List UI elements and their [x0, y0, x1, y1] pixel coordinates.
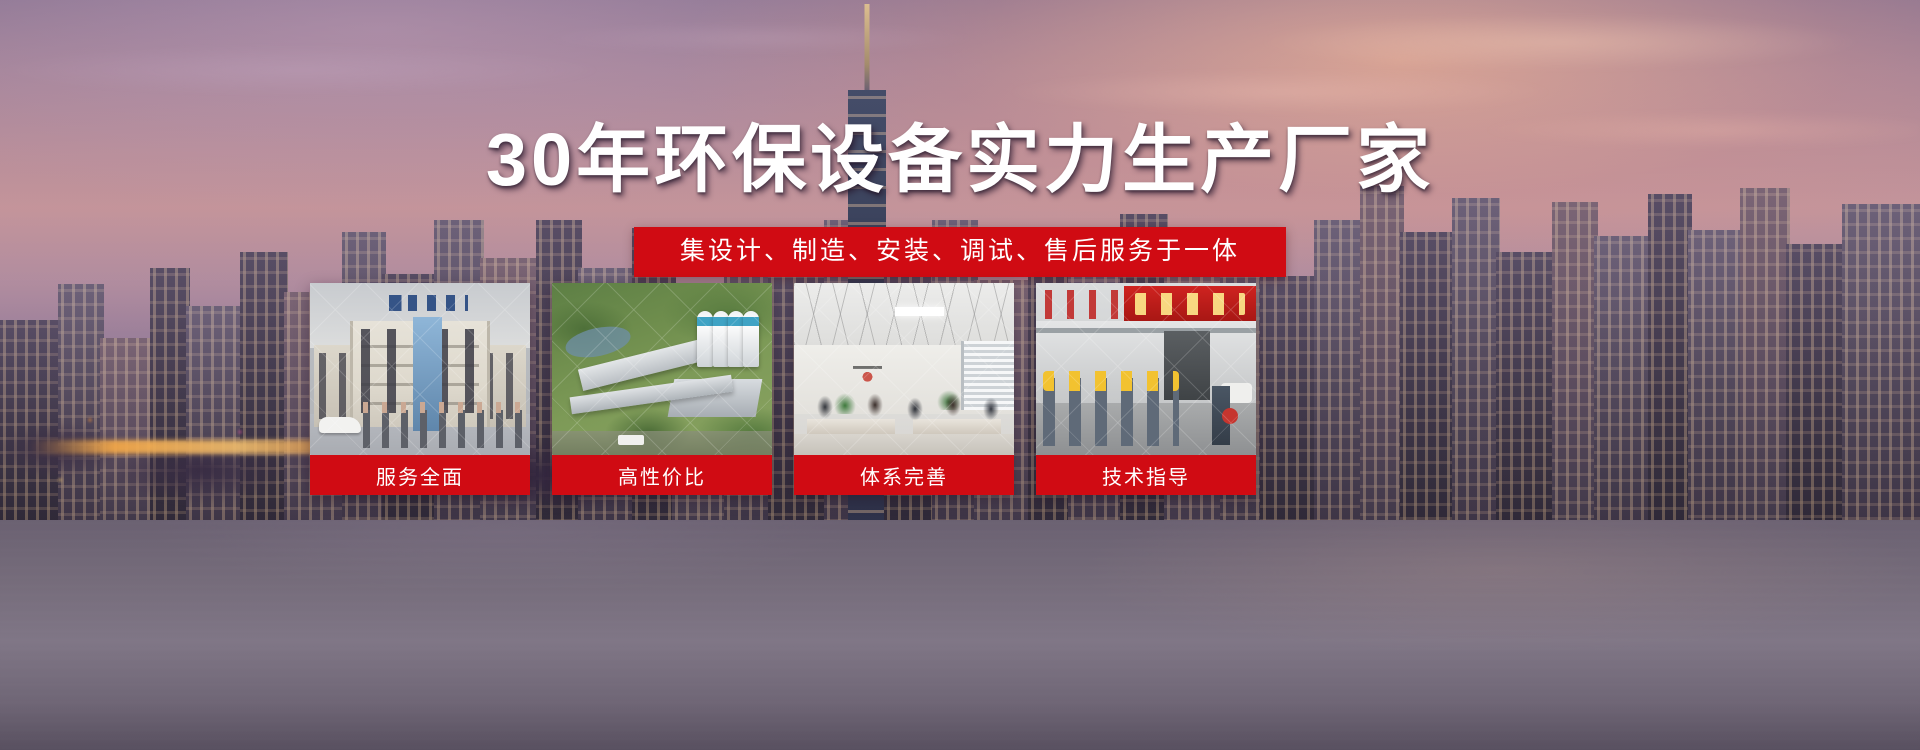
office-interior-team-photo	[794, 283, 1014, 455]
feature-card-caption: 服务全面	[310, 455, 530, 495]
subtitle-container: 集设计、制造、安装、调试、售后服务于一体	[0, 227, 1920, 277]
hero-banner: 30年环保设备实力生产厂家 集设计、制造、安装、调试、售后服务于一体 服务全面	[0, 0, 1920, 750]
feature-card-caption: 技术指导	[1036, 455, 1256, 495]
workshop-red-banner	[1124, 286, 1256, 320]
feature-card[interactable]: 服务全面	[310, 283, 530, 495]
page-title: 30年环保设备实力生产厂家	[0, 100, 1920, 207]
industrial-plant-aerial-photo	[552, 283, 772, 455]
subtitle-badge: 集设计、制造、安装、调试、售后服务于一体	[634, 227, 1286, 277]
feature-card-caption: 高性价比	[552, 455, 772, 495]
safety-helmets	[1043, 371, 1179, 392]
feature-card[interactable]: 体系完善	[794, 283, 1014, 495]
company-office-building-photo	[310, 283, 530, 455]
workshop-workers-photo	[1036, 283, 1256, 455]
feature-card-list: 服务全面 高性价比	[310, 283, 1562, 495]
feature-card[interactable]: 技术指导	[1036, 283, 1256, 495]
feature-card[interactable]: 高性价比	[552, 283, 772, 495]
company-logo-sign	[389, 295, 468, 310]
feature-card-caption: 体系完善	[794, 455, 1014, 495]
